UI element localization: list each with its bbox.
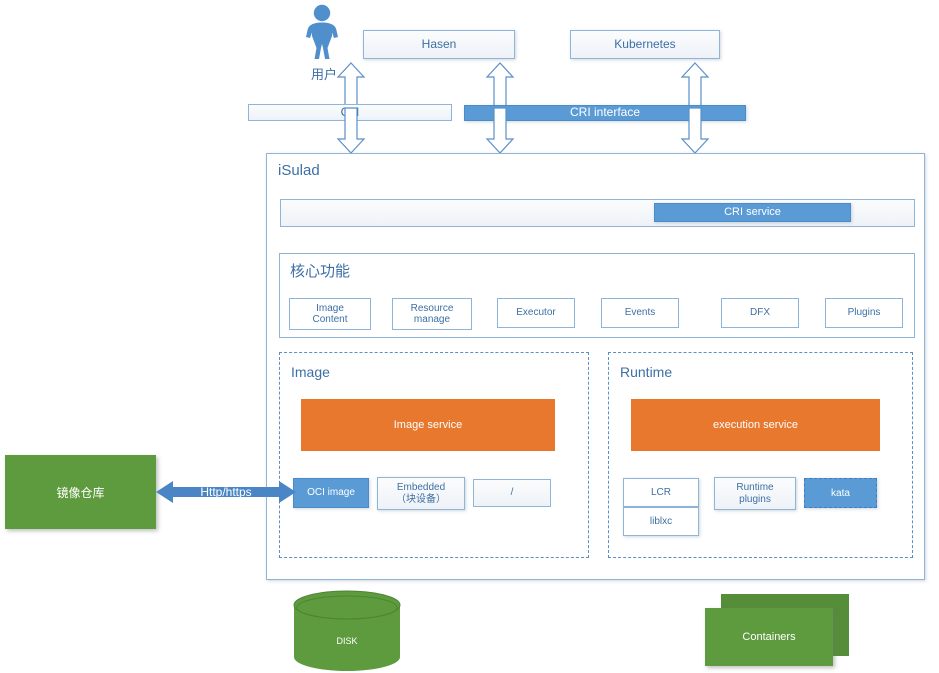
arrow-cli-isulad-lower [336, 108, 366, 154]
architecture-diagram: 用户 Hasen Kubernetes CLI CRI interface [0, 0, 939, 673]
arrow-cri-isulad-lower-right [680, 108, 710, 154]
core-module-line1: DFX [750, 307, 770, 319]
image-group [279, 352, 589, 558]
core-module-dfx[interactable]: DFX [721, 298, 799, 328]
core-module-line1: Resource [411, 303, 454, 315]
http-https-label: Http/https [156, 485, 296, 499]
core-module-line1: Plugins [848, 307, 881, 319]
kubernetes-label: Kubernetes [614, 38, 675, 52]
containers-label: Containers [742, 631, 795, 643]
embedded-line1: Embedded [397, 482, 445, 494]
disk-label: DISK [292, 636, 402, 646]
liblxc-label: liblxc [650, 516, 672, 528]
core-module-resource-manage[interactable]: Resource manage [392, 298, 472, 330]
image-service-box[interactable]: Image service [301, 399, 555, 451]
cri-interface-label: CRI interface [570, 106, 640, 120]
oci-image-label: OCI image [307, 487, 355, 499]
disk-cylinder[interactable] [292, 591, 402, 673]
image-slash-label: / [511, 487, 514, 499]
image-group-title: Image [291, 364, 330, 380]
cri-service-box[interactable]: CRI service [654, 203, 851, 222]
arrow-hasen-cri-upper [485, 62, 515, 108]
core-module-line2: manage [414, 314, 450, 326]
runtime-plugins-line1: Runtime [736, 482, 773, 494]
oci-image-box[interactable]: OCI image [293, 478, 369, 508]
kata-box[interactable]: kata [804, 478, 877, 508]
image-service-label: Image service [394, 419, 462, 431]
core-module-line1: Events [625, 307, 656, 319]
core-functions-group [279, 253, 915, 338]
hasen-box[interactable]: Hasen [363, 30, 515, 59]
embedded-line2: （块设备） [396, 494, 446, 506]
runtime-group-title: Runtime [620, 364, 672, 380]
core-module-events[interactable]: Events [601, 298, 679, 328]
lcr-box[interactable]: LCR [623, 478, 699, 507]
arrow-cri-isulad-lower-left [485, 108, 515, 154]
hasen-label: Hasen [422, 38, 457, 52]
cri-service-label: CRI service [724, 206, 781, 219]
core-module-executor[interactable]: Executor [497, 298, 575, 328]
isulad-title: iSulad [278, 162, 320, 179]
core-module-image-content[interactable]: Image Content [289, 298, 371, 330]
execution-service-label: execution service [713, 419, 798, 431]
arrow-user-cli-upper [336, 62, 366, 108]
kata-label: kata [831, 488, 850, 499]
image-slash-box[interactable]: / [473, 479, 551, 507]
core-module-line1: Image [316, 303, 344, 315]
arrow-kubernetes-cri-upper [680, 62, 710, 108]
kubernetes-box[interactable]: Kubernetes [570, 30, 720, 59]
core-functions-title: 核心功能 [290, 260, 350, 281]
embedded-box[interactable]: Embedded （块设备） [377, 477, 465, 510]
person-icon [296, 4, 348, 60]
liblxc-box[interactable]: liblxc [623, 507, 699, 536]
core-module-plugins[interactable]: Plugins [825, 298, 903, 328]
runtime-plugins-box[interactable]: Runtime plugins [714, 477, 796, 510]
core-module-line2: Content [312, 314, 347, 326]
lcr-label: LCR [651, 487, 671, 499]
containers-box-front[interactable]: Containers [705, 608, 833, 666]
execution-service-box[interactable]: execution service [631, 399, 880, 451]
runtime-plugins-line2: plugins [739, 494, 771, 506]
image-registry-label: 镜像仓库 [56, 484, 104, 501]
core-module-line1: Executor [516, 307, 555, 319]
image-registry-box[interactable]: 镜像仓库 [5, 455, 156, 529]
